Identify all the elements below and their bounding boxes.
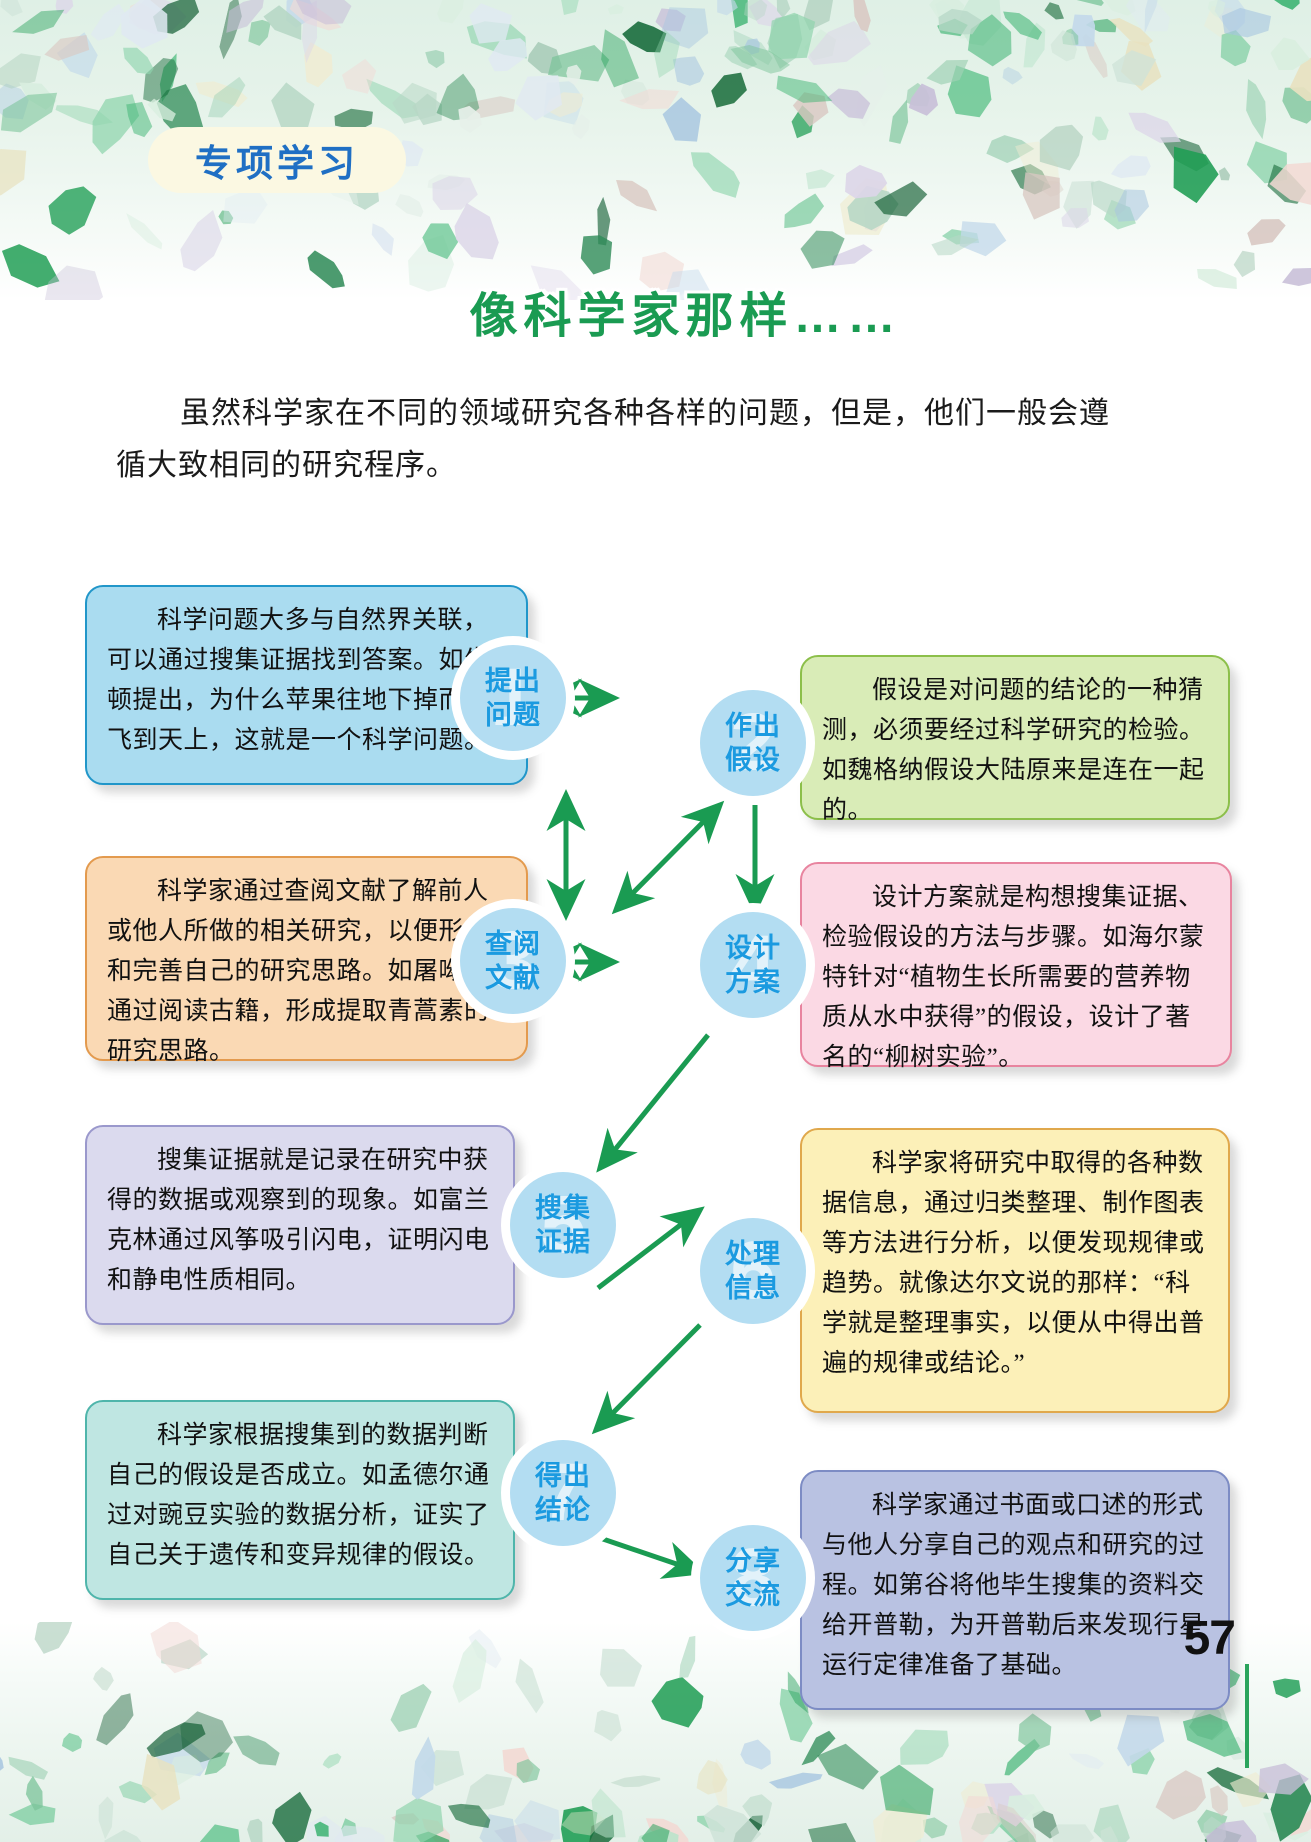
intro-paragraph-block: 虽然科学家在不同的领域研究各种各样的问题，但是，他们一般会遵循大致相同的研究程序… — [116, 388, 1116, 492]
step-box-5: 搜集证据就是记录在研究中获得的数据或观察到的现象。如富兰克林通过风筝吸引闪电，证… — [85, 1125, 515, 1325]
step-label-7: 得出 结论 — [535, 1459, 591, 1527]
section-badge: 专项学习 — [148, 127, 406, 193]
step-circle-2[interactable]: 2 作出 假设 — [700, 690, 806, 796]
step-circle-4[interactable]: 4 设计 方案 — [700, 912, 806, 1018]
step-circle-3[interactable]: 3 查阅 文献 — [460, 908, 566, 1014]
section-badge-label: 专项学习 — [195, 133, 359, 187]
step-circle-7[interactable]: 7 得出 结论 — [510, 1440, 616, 1546]
step-circle-8[interactable]: 8 分享 交流 — [700, 1525, 806, 1631]
step-circle-5[interactable]: 5 搜集 证据 — [510, 1172, 616, 1278]
step-label-8: 分享 交流 — [725, 1544, 781, 1612]
step-box-7: 科学家根据搜集到的数据判断自己的假设是否成立。如孟德尔通过对豌豆实验的数据分析，… — [85, 1400, 515, 1600]
step-box-6: 科学家将研究中取得的各种数据信息，通过归类整理、制作图表等方法进行分析，以便发现… — [800, 1128, 1230, 1413]
intro-paragraph: 虽然科学家在不同的领域研究各种各样的问题，但是，他们一般会遵循大致相同的研究程序… — [116, 388, 1116, 492]
step-label-5: 搜集 证据 — [535, 1191, 591, 1259]
step-label-6: 处理 信息 — [725, 1237, 781, 1305]
step-circle-1[interactable]: 1 提出 问题 — [460, 645, 566, 751]
page-number: 57 — [1184, 1611, 1235, 1666]
step-label-2: 作出 假设 — [725, 709, 781, 777]
step-circle-6[interactable]: 6 处理 信息 — [700, 1218, 806, 1324]
step-box-2: 假设是对问题的结论的一种猜测，必须要经过科学研究的检验。如魏格纳假设大陆原来是连… — [800, 655, 1230, 820]
page-title: 像科学家那样…… — [0, 276, 1311, 346]
step-box-8: 科学家通过书面或口述的形式与他人分享自己的观点和研究的过程。如第谷将他毕生搜集的… — [800, 1470, 1230, 1710]
page-number-rule — [1245, 1664, 1249, 1768]
step-label-1: 提出 问题 — [485, 664, 541, 732]
step-label-3: 查阅 文献 — [485, 927, 541, 995]
step-label-4: 设计 方案 — [725, 931, 781, 999]
step-box-4: 设计方案就是构想搜集证据、检验假设的方法与步骤。如海尔蒙特针对“植物生长所需要的… — [800, 862, 1232, 1067]
